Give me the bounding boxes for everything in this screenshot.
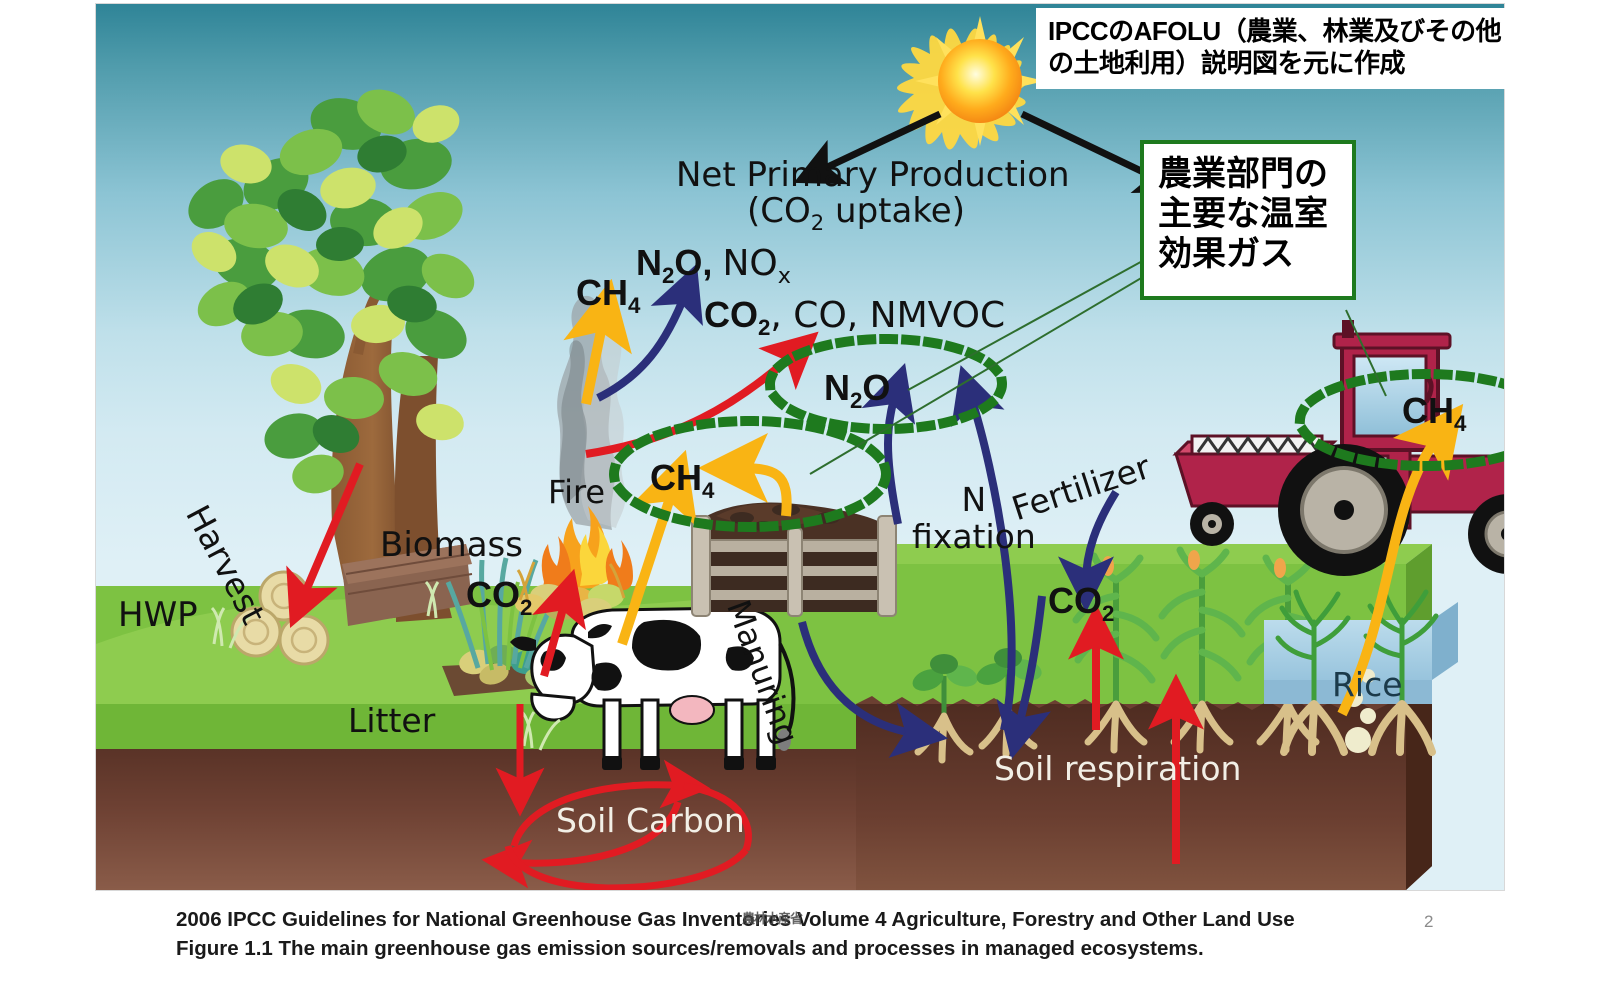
ch4-rice-label: CH4 xyxy=(1402,392,1466,436)
caption-japanese-overlay: 農林水産省 xyxy=(742,908,802,927)
litter-label: Litter xyxy=(348,704,435,739)
tree-foliage xyxy=(179,81,482,498)
hwp-label: HWP xyxy=(118,598,198,634)
callout-line1: 農業部門の xyxy=(1158,154,1352,194)
terrain-shapes xyxy=(96,4,1504,890)
tractor-illustration xyxy=(1176,320,1504,576)
rice-label: Rice xyxy=(1332,668,1403,703)
n2o-manure-label: N2O xyxy=(824,369,890,413)
sun-icon xyxy=(897,16,1045,150)
co2-crop-label: CO2 xyxy=(1048,582,1114,626)
npp-label: Net Primary Production (CO2 uptake) xyxy=(676,158,1036,234)
co2-biomass-label: CO2 xyxy=(466,576,532,620)
main-ghg-callout-box: 農業部門の 主要な温室 効果ガス xyxy=(1140,140,1356,300)
soil-respiration-label: Soil respiration xyxy=(994,752,1241,787)
source-note-line2: の土地利用）説明図を元に作成 xyxy=(1048,48,1514,80)
fire-label: Fire xyxy=(548,476,605,510)
gas-n2o-nox-label: N2O, NOx xyxy=(636,244,791,289)
callout-line2: 主要な温室 xyxy=(1158,194,1352,234)
ch4-manure-label: CH4 xyxy=(650,459,714,503)
fire-illustration xyxy=(515,296,646,622)
callout-line3: 効果ガス xyxy=(1158,234,1352,274)
gas-co2-co-nmvoc-label: CO2, CO, NMVOC xyxy=(704,296,1005,340)
caption-line2: Figure 1.1 The main greenhouse gas emiss… xyxy=(176,934,1376,963)
source-note-box: IPCCのAFOLU（農業、林業及びその他 の土地利用）説明図を元に作成 xyxy=(1036,8,1524,89)
page-number: 2 xyxy=(1424,912,1433,932)
gas-ch4-fire-label: CH4 xyxy=(576,274,640,318)
slide: Net Primary Production (CO2 uptake) CH4 … xyxy=(0,0,1600,999)
biomass-label: Biomass xyxy=(380,528,523,564)
soil-carbon-label: Soil Carbon xyxy=(556,804,745,839)
source-note-line1: IPCCのAFOLU（農業、林業及びその他 xyxy=(1048,16,1514,48)
ipcc-afolu-diagram: Net Primary Production (CO2 uptake) CH4 … xyxy=(96,4,1504,890)
